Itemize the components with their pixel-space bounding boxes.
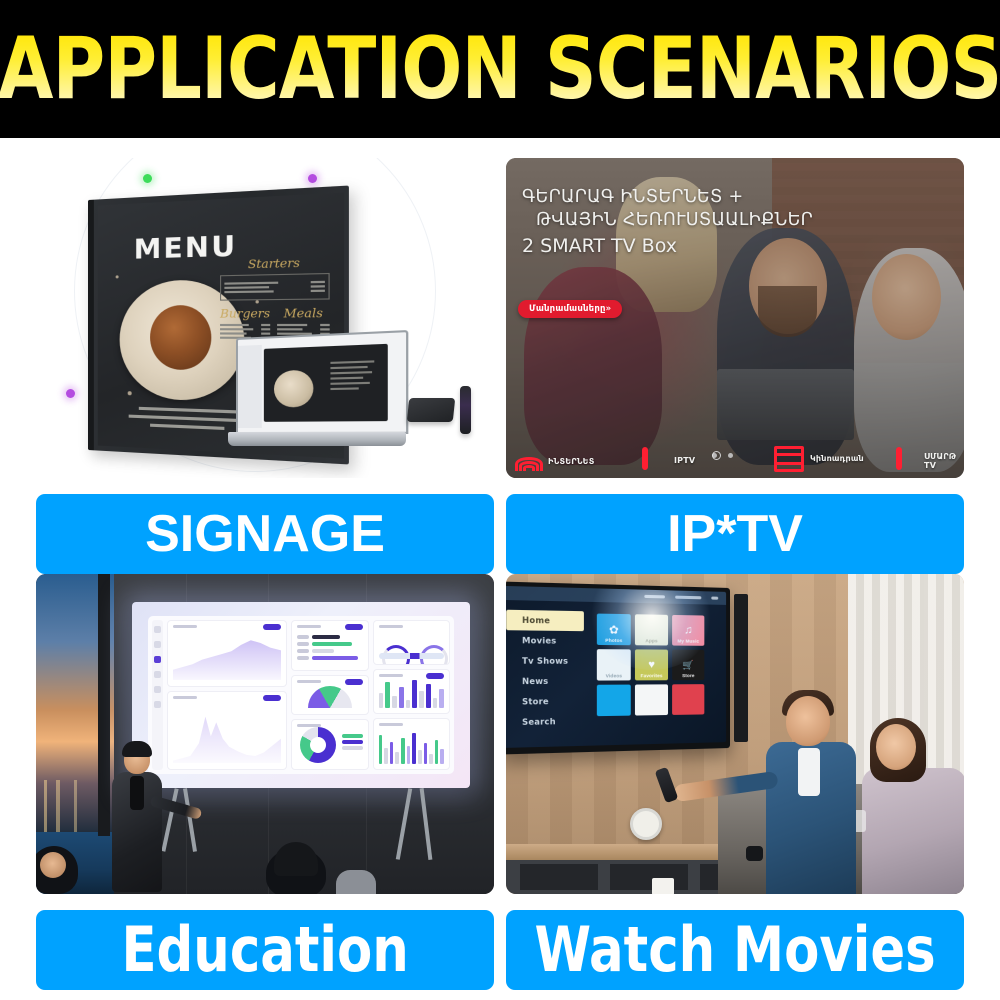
store-tile-label: Store <box>672 673 704 678</box>
feature-internet: ԻՆՏԵՐՆԵՏ <box>516 452 594 472</box>
chart-card-gauge <box>291 675 368 716</box>
iptv-headline: ԳԵՐԱՐԱԳ ԻՆՏԵՐՆԵՏ + ԹՎԱՅԻՆ ՀԵՌՈՒՍՏԱԱԼԻՔՆԵ… <box>522 186 924 259</box>
dashboard-display <box>132 602 470 788</box>
purple-accent-dot-top <box>308 174 317 183</box>
chart-card-donut <box>291 719 368 770</box>
tv-screen: Home Movies Tv Shows News Store Search ✿… <box>506 586 726 748</box>
tv-menu-item-movies[interactable]: Movies <box>506 630 588 651</box>
signage-label: SIGNAGE <box>145 508 385 560</box>
education-label: Education <box>121 919 408 981</box>
tv-box-device <box>407 398 456 422</box>
tv-menu-item-tv-shows[interactable]: Tv Shows <box>506 651 588 672</box>
menu-section-starters: Starters <box>220 255 330 272</box>
scenario-card-watch-movies[interactable]: Home Movies Tv Shows News Store Search ✿… <box>506 574 964 992</box>
feature-cinema: Կինոադրան <box>774 446 862 472</box>
signage-label-bar[interactable]: SIGNAGE <box>36 494 494 574</box>
chart-card-list <box>291 620 368 671</box>
chart-card-trend <box>167 620 287 687</box>
tv-menu-item-news[interactable]: News <box>506 671 588 692</box>
presenter-shirt <box>130 776 144 810</box>
presenter <box>110 744 164 894</box>
living-room-scene: Home Movies Tv Shows News Store Search ✿… <box>506 574 964 894</box>
table-clock <box>630 808 662 840</box>
menu-section-meals: Meals <box>277 306 330 320</box>
signage-photo: MENU Starters <box>36 158 494 478</box>
woman-viewer <box>858 724 964 894</box>
education-photo <box>36 574 494 894</box>
tv-menu-item-home[interactable]: Home <box>506 610 584 631</box>
tv-menu-list[interactable]: Home Movies Tv Shows News Store Search <box>506 610 588 733</box>
iptv-scene: ԳԵՐԱՐԱԳ ԻՆՏԵՐՆԵՏ + ԹՎԱՅԻՆ ՀԵՌՈՒՍՏԱԱԼԻՔՆԵ… <box>506 158 964 478</box>
white-tile[interactable] <box>635 684 668 715</box>
scenario-grid: MENU Starters <box>0 138 1000 1000</box>
feature-cinema-label: Կինոադրան <box>810 454 862 463</box>
education-label-bar[interactable]: Education <box>36 910 494 990</box>
menu-items-starters <box>220 273 330 301</box>
tv-menu-item-store[interactable]: Store <box>506 691 588 712</box>
signage-laptop <box>228 338 406 446</box>
laptop-food-graphic <box>274 370 313 408</box>
page-title: APPLICATION SCENARIOS <box>0 26 1000 112</box>
chart-card-bars-wide <box>373 718 450 770</box>
wall-mounted-tv: Home Movies Tv Shows News Store Search ✿… <box>506 581 730 754</box>
man-shirt <box>798 748 820 796</box>
feature-smart-tv: ՍՄԱՐԹ TV <box>896 450 964 472</box>
scenario-card-education[interactable]: Education <box>36 574 494 992</box>
chart-card-spike <box>167 691 287 770</box>
woman-body <box>862 768 964 894</box>
iptv-label-bar[interactable]: IP*TV <box>506 494 964 574</box>
film-strip-icon <box>774 446 804 472</box>
chart-card-rings <box>373 620 450 665</box>
feature-internet-label: ԻՆՏԵՐՆԵՏ <box>548 457 594 466</box>
watch-movies-label: Watch Movies <box>534 919 935 981</box>
green-accent-dot <box>143 174 152 183</box>
laptop-preview <box>264 344 388 422</box>
education-scene <box>36 574 494 894</box>
dashboard-ui <box>148 616 454 774</box>
coffee-mug <box>652 878 674 894</box>
audience-face-left <box>40 852 66 878</box>
video-tile-label: Videos <box>597 673 631 678</box>
woman-head <box>876 724 916 770</box>
scenario-card-signage[interactable]: MENU Starters <box>36 158 494 576</box>
red-tile[interactable] <box>672 684 704 715</box>
live-tile[interactable] <box>597 685 631 717</box>
remote-control <box>460 386 471 434</box>
food-graphic <box>150 305 211 370</box>
chart-card-bars <box>373 669 450 714</box>
menu-section-burgers: Burgers <box>220 307 270 321</box>
wifi-icon <box>516 452 542 472</box>
iptv-feature-strip: ԻՆՏԵՐՆԵՏ IPTV Կինոադրան <box>506 422 964 478</box>
feature-iptv-label: IPTV <box>674 456 695 465</box>
audience-member-right <box>336 870 376 894</box>
iptv-label: IP*TV <box>667 508 803 560</box>
favorites-tile-label: Favorites <box>635 673 668 678</box>
watch-movies-label-bar[interactable]: Watch Movies <box>506 910 964 990</box>
tv-side-speaker <box>734 594 748 742</box>
watch-movies-photo: Home Movies Tv Shows News Store Search ✿… <box>506 574 964 894</box>
man-viewer <box>752 694 872 894</box>
monitor-icon <box>642 450 668 472</box>
laptop-sidebar <box>238 345 262 428</box>
feature-smart-tv-label: ՍՄԱՐԹ TV <box>924 452 964 470</box>
iptv-headline-line2: ԹՎԱՅԻՆ ՀԵՌՈՒՍՏԱԱԼԻՔՆԵՐ <box>522 209 924 232</box>
iptv-cta-badge[interactable]: Մանրամասները» <box>518 300 622 318</box>
iptv-headline-line3: 2 SMART TV Box <box>522 234 924 259</box>
laptop-menu-lines <box>330 357 381 393</box>
feature-iptv: IPTV <box>642 450 695 472</box>
tv-menu-item-search[interactable]: Search <box>506 711 588 733</box>
laptop-screen <box>236 330 408 434</box>
menu-right-column: Starters Burgers <box>220 255 330 341</box>
monitor-icon <box>896 450 918 472</box>
iptv-headline-line1: ԳԵՐԱՐԱԳ ԻՆՏԵՐՆԵՏ + <box>522 186 924 209</box>
signage-scene: MENU Starters <box>36 158 494 478</box>
scenario-card-iptv[interactable]: ԳԵՐԱՐԱԳ ԻՆՏԵՐՆԵՏ + ԹՎԱՅԻՆ ՀԵՌՈՒՍՏԱԱԼԻՔՆԵ… <box>506 158 964 576</box>
purple-accent-dot-left <box>66 389 75 398</box>
window-frame <box>98 574 110 836</box>
iptv-photo: ԳԵՐԱՐԱԳ ԻՆՏԵՐՆԵՏ + ԹՎԱՅԻՆ ՀԵՌՈՒՍՏԱԱԼԻՔՆԵ… <box>506 158 964 478</box>
smartwatch <box>746 846 763 861</box>
presenter-hair <box>122 741 152 757</box>
display-bezel-edge <box>88 200 94 451</box>
man-head <box>786 696 830 746</box>
header-banner: APPLICATION SCENARIOS <box>0 0 1000 138</box>
laptop-base <box>228 432 406 446</box>
